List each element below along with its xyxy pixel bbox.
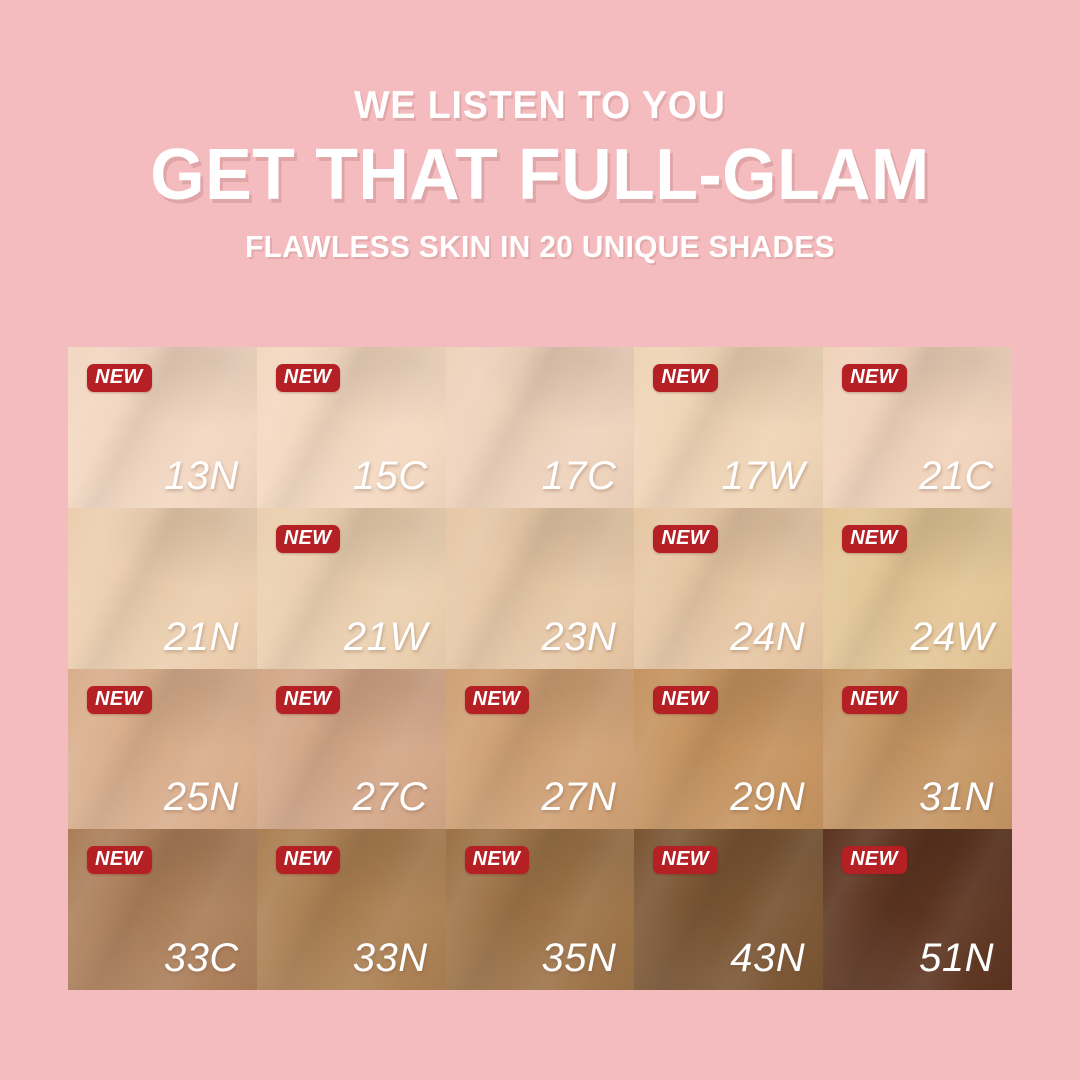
- shade-name-label: 24N: [730, 617, 805, 657]
- shade-swatch[interactable]: NEW31N: [823, 669, 1012, 830]
- shade-name-label: 21W: [344, 617, 428, 657]
- shade-name-label: 33C: [164, 938, 239, 978]
- new-badge: NEW: [87, 846, 152, 874]
- new-badge: NEW: [653, 686, 718, 714]
- shade-swatch[interactable]: NEW21C: [823, 347, 1012, 508]
- shade-name-label: 35N: [542, 938, 617, 978]
- shade-name-label: 21N: [164, 617, 239, 657]
- eyebrow-text: WE LISTEN TO YOU: [22, 86, 1059, 125]
- shade-swatch[interactable]: NEW35N: [446, 829, 635, 990]
- header-block: WE LISTEN TO YOU GET THAT FULL-GLAM FLAW…: [0, 0, 1080, 262]
- shade-swatch[interactable]: NEW24W: [823, 508, 1012, 669]
- shade-swatch[interactable]: 23N: [446, 508, 635, 669]
- new-badge: NEW: [842, 686, 907, 714]
- shade-swatch[interactable]: NEW33N: [257, 829, 446, 990]
- new-badge: NEW: [276, 364, 341, 392]
- shade-swatch[interactable]: NEW13N: [68, 347, 257, 508]
- shade-name-label: 23N: [542, 617, 617, 657]
- shade-name-label: 24W: [910, 617, 994, 657]
- shade-name-label: 25N: [164, 777, 239, 817]
- new-badge: NEW: [465, 686, 530, 714]
- shade-swatch[interactable]: NEW51N: [823, 829, 1012, 990]
- shade-swatch[interactable]: NEW33C: [68, 829, 257, 990]
- shade-name-label: 15C: [353, 456, 428, 496]
- shade-swatch[interactable]: 21N: [68, 508, 257, 669]
- shade-name-label: 17C: [542, 456, 617, 496]
- shade-name-label: 51N: [919, 938, 994, 978]
- shade-name-label: 33N: [353, 938, 428, 978]
- new-badge: NEW: [276, 846, 341, 874]
- shade-swatch[interactable]: NEW25N: [68, 669, 257, 830]
- shade-swatch-grid: NEW13NNEW15C17CNEW17WNEW21C21NNEW21W23NN…: [68, 347, 1012, 990]
- shade-name-label: 29N: [730, 777, 805, 817]
- shade-name-label: 21C: [919, 456, 994, 496]
- new-badge: NEW: [653, 525, 718, 553]
- shade-swatch[interactable]: NEW27N: [446, 669, 635, 830]
- shade-range-promo-page: WE LISTEN TO YOU GET THAT FULL-GLAM FLAW…: [0, 0, 1080, 1080]
- new-badge: NEW: [276, 686, 341, 714]
- shade-name-label: 13N: [164, 456, 239, 496]
- shade-name-label: 31N: [919, 777, 994, 817]
- new-badge: NEW: [465, 846, 530, 874]
- shade-name-label: 43N: [730, 938, 805, 978]
- new-badge: NEW: [653, 846, 718, 874]
- shade-swatch[interactable]: NEW21W: [257, 508, 446, 669]
- new-badge: NEW: [87, 686, 152, 714]
- new-badge: NEW: [842, 364, 907, 392]
- shade-name-label: 27N: [542, 777, 617, 817]
- shade-swatch[interactable]: 17C: [446, 347, 635, 508]
- shade-swatch[interactable]: NEW43N: [634, 829, 823, 990]
- shade-swatch[interactable]: NEW29N: [634, 669, 823, 830]
- new-badge: NEW: [842, 846, 907, 874]
- shade-swatch[interactable]: NEW17W: [634, 347, 823, 508]
- shade-name-label: 17W: [721, 456, 805, 496]
- shade-swatch[interactable]: NEW27C: [257, 669, 446, 830]
- new-badge: NEW: [276, 525, 341, 553]
- shade-swatch[interactable]: NEW24N: [634, 508, 823, 669]
- subline-text: FLAWLESS SKIN IN 20 UNIQUE SHADES: [22, 231, 1059, 262]
- shade-swatch[interactable]: NEW15C: [257, 347, 446, 508]
- new-badge: NEW: [87, 364, 152, 392]
- headline-text: GET THAT FULL-GLAM: [16, 139, 1064, 211]
- new-badge: NEW: [842, 525, 907, 553]
- new-badge: NEW: [653, 364, 718, 392]
- shade-name-label: 27C: [353, 777, 428, 817]
